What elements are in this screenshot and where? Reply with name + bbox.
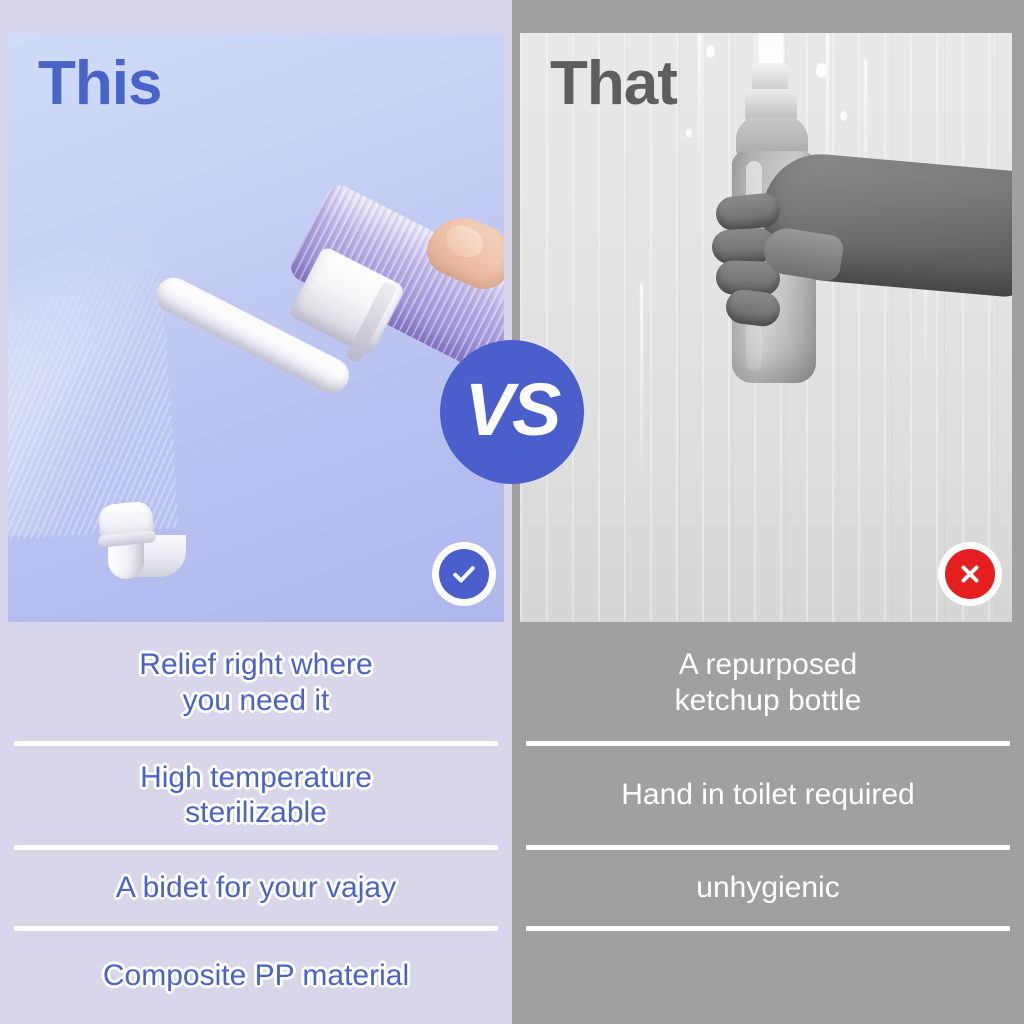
right-feature-text-2: unhygienic xyxy=(696,870,839,905)
comparison-infographic: This That xyxy=(0,0,1024,1024)
right-feature-text-0: A repurposedketchup bottle xyxy=(675,647,862,718)
left-panel-title: This xyxy=(38,53,161,115)
water-spray-lines xyxy=(8,199,179,549)
left-product-image: This xyxy=(8,33,504,622)
water-droplet xyxy=(686,129,692,138)
list-item: Hand in toilet required xyxy=(512,743,1024,847)
right-panel-title: That xyxy=(550,53,677,115)
left-feature-text-3: Composite PP material xyxy=(103,958,409,993)
cross-badge xyxy=(938,542,1002,606)
list-item: Relief right whereyou need it xyxy=(0,622,512,743)
list-item: Composite PP material xyxy=(0,928,512,1024)
right-product-image: That xyxy=(520,33,1012,622)
water-drip xyxy=(698,33,701,153)
bidet-sprayer-illustration xyxy=(8,33,504,622)
check-icon xyxy=(439,549,489,599)
ketchup-bottle-photo xyxy=(520,33,1012,622)
list-item: A repurposedketchup bottle xyxy=(512,622,1024,743)
water-droplet xyxy=(706,45,715,58)
water-droplet xyxy=(840,111,847,121)
cross-icon xyxy=(945,549,995,599)
check-badge xyxy=(432,542,496,606)
list-item: High temperaturesterilizable xyxy=(0,743,512,847)
left-feature-text-0: Relief right whereyou need it xyxy=(139,647,372,718)
water-drip xyxy=(640,283,643,473)
list-item xyxy=(512,928,1024,1024)
vs-badge: VS xyxy=(440,340,584,484)
right-feature-list: A repurposedketchup bottle Hand in toile… xyxy=(512,622,1024,1024)
vs-label: VS xyxy=(465,373,560,447)
right-feature-text-1: Hand in toilet required xyxy=(621,777,915,812)
left-feature-list: Relief right whereyou need it High tempe… xyxy=(0,622,512,1024)
list-item: A bidet for your vajay xyxy=(0,847,512,928)
left-feature-text-2: A bidet for your vajay xyxy=(116,870,396,905)
list-item: unhygienic xyxy=(512,847,1024,928)
left-feature-text-1: High temperaturesterilizable xyxy=(140,760,372,831)
